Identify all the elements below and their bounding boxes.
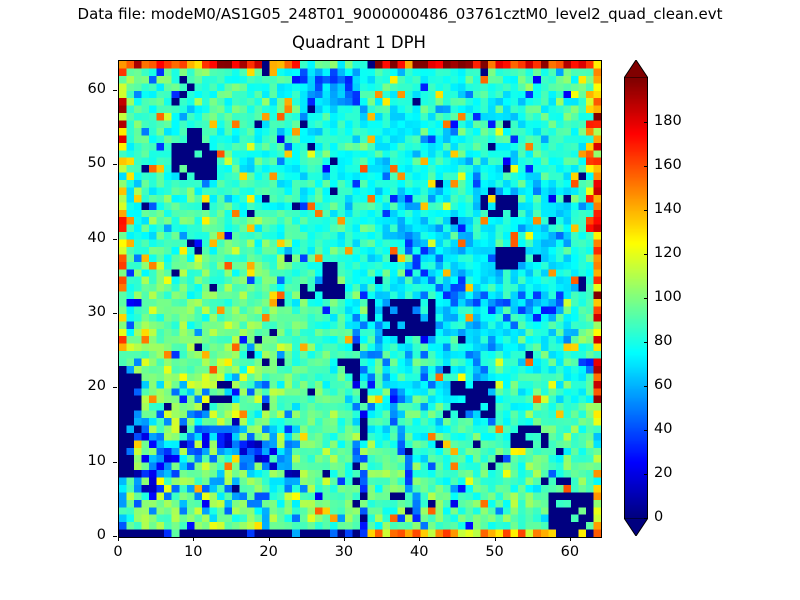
y-tick-label: 60: [46, 81, 106, 97]
colorbar[interactable]: 020406080100120140160180: [624, 60, 648, 536]
x-tick-label: 60: [540, 544, 600, 560]
colorbar-tick-label: 180: [654, 113, 682, 129]
colorbar-tick-mark: [644, 342, 648, 343]
page-title: Quadrant 1 DPH: [118, 33, 600, 52]
x-tick-label: 40: [389, 544, 449, 560]
x-tick-mark: [495, 537, 496, 541]
colorbar-tick-mark: [644, 254, 648, 255]
x-tick-mark: [193, 537, 194, 541]
y-tick-mark: [113, 462, 117, 463]
y-tick-mark: [113, 387, 117, 388]
y-tick-mark: [113, 239, 117, 240]
x-tick-mark: [344, 537, 345, 541]
y-tick-mark: [113, 536, 117, 537]
x-tick-mark: [118, 537, 119, 541]
colorbar-tick-mark: [644, 298, 648, 299]
y-tick-mark: [113, 164, 117, 165]
colorbar-extend-max-arrow: [624, 60, 648, 78]
colorbar-tick-mark: [644, 518, 648, 519]
colorbar-tick-label: 160: [654, 157, 682, 173]
colorbar-tick-label: 120: [654, 245, 682, 261]
y-tick-mark: [113, 313, 117, 314]
x-tick-label: 20: [239, 544, 299, 560]
heatmap-image[interactable]: [119, 61, 601, 537]
colorbar-tick-label: 20: [654, 465, 672, 481]
colorbar-tick-mark: [644, 474, 648, 475]
x-tick-mark: [419, 537, 420, 541]
y-tick-label: 10: [46, 453, 106, 469]
heatmap-axes[interactable]: [118, 60, 602, 538]
colorbar-tick-mark: [644, 166, 648, 167]
y-tick-label: 30: [46, 304, 106, 320]
colorbar-tick-label: 40: [654, 421, 672, 437]
y-tick-label: 50: [46, 155, 106, 171]
x-tick-label: 0: [88, 544, 148, 560]
colorbar-tick-mark: [644, 430, 648, 431]
y-tick-label: 40: [46, 230, 106, 246]
colorbar-tick-label: 60: [654, 377, 672, 393]
x-tick-mark: [269, 537, 270, 541]
x-tick-label: 50: [465, 544, 525, 560]
colorbar-tick-mark: [644, 210, 648, 211]
colorbar-tick-label: 80: [654, 333, 672, 349]
colorbar-tick-label: 0: [654, 509, 663, 525]
y-tick-label: 0: [46, 527, 106, 543]
colorbar-tick-mark: [644, 386, 648, 387]
y-tick-label: 20: [46, 378, 106, 394]
colorbar-tick-label: 140: [654, 201, 682, 217]
colorbar-tick-label: 100: [654, 289, 682, 305]
x-tick-label: 30: [314, 544, 374, 560]
colorbar-tick-mark: [644, 122, 648, 123]
x-tick-mark: [570, 537, 571, 541]
x-tick-label: 10: [163, 544, 223, 560]
colorbar-extend-min-arrow: [624, 518, 648, 536]
figure-suptitle: Data file: modeM0/AS1G05_248T01_90000004…: [0, 5, 800, 23]
figure-canvas: Data file: modeM0/AS1G05_248T01_90000004…: [0, 0, 800, 600]
y-tick-mark: [113, 90, 117, 91]
